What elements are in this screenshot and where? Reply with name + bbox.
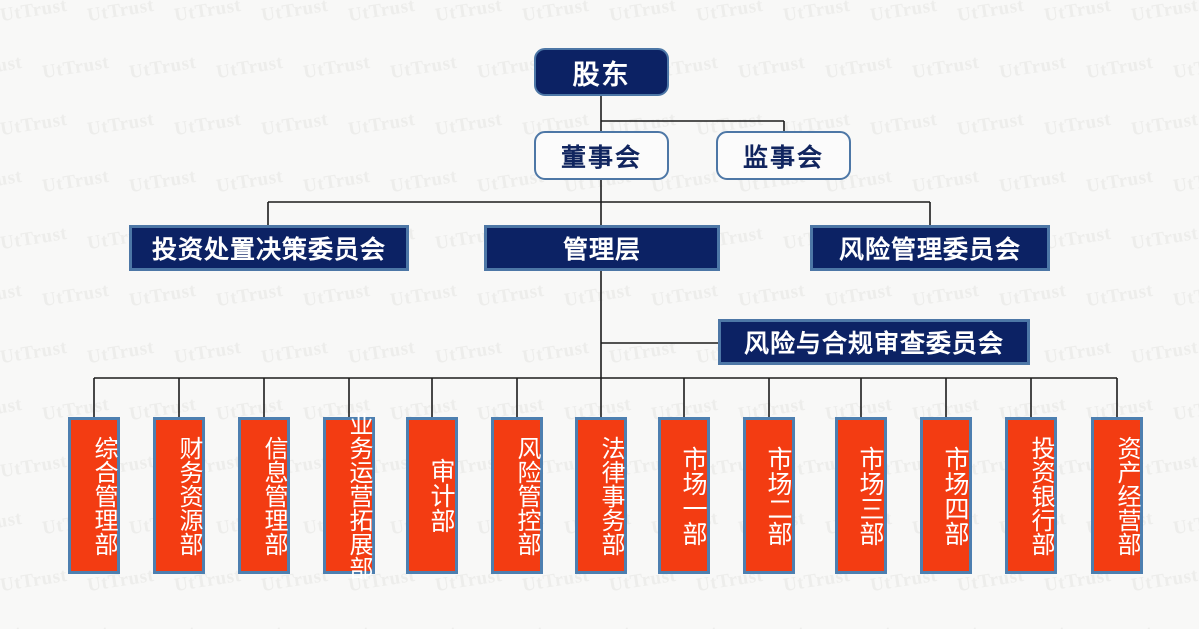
node-department[interactable]: 资产经营部 [1091,417,1143,574]
node-department[interactable]: 信息管理部 [238,417,290,574]
node-board-of-supervisors-label: 监事会 [743,138,824,174]
node-department[interactable]: 投资银行部 [1005,417,1057,574]
node-department-label: 财务资源部 [175,436,202,556]
node-department[interactable]: 风险管控部 [491,417,543,574]
node-department-label: 综合管理部 [90,436,117,556]
node-management[interactable]: 管理层 [484,225,720,271]
node-board-of-supervisors[interactable]: 监事会 [716,131,851,180]
node-layer: 股东 董事会 监事会 投资处置决策委员会 管理层 风险管理委员会 风险与合规审查… [0,0,1199,629]
node-department-label: 资产经营部 [1113,436,1140,556]
node-department[interactable]: 市场一部 [658,417,710,574]
node-investment-disposal-committee-label: 投资处置决策委员会 [152,230,386,266]
node-risk-management-committee-label: 风险管理委员会 [839,230,1021,266]
node-department-label: 业务运营拓展部 [345,412,372,580]
node-department[interactable]: 市场二部 [743,417,795,574]
node-department[interactable]: 综合管理部 [68,417,120,574]
node-department-label: 信息管理部 [260,436,287,556]
node-department-label: 投资银行部 [1027,436,1054,556]
node-department[interactable]: 业务运营拓展部 [323,417,375,574]
node-department-label: 审计部 [427,458,455,533]
node-department-label: 法律事务部 [597,436,624,556]
node-management-label: 管理层 [563,230,641,266]
node-department-label: 市场一部 [679,446,707,546]
node-department[interactable]: 法律事务部 [575,417,627,574]
node-risk-management-committee[interactable]: 风险管理委员会 [810,225,1050,271]
org-chart: UtTrustUtTrustUtTrustUtTrustUtTrustUtTru… [0,0,1199,629]
node-department-label: 市场二部 [764,446,792,546]
node-board-of-directors-label: 董事会 [561,138,642,174]
node-department-label: 市场三部 [856,446,884,546]
node-risk-compliance-review-committee-label: 风险与合规审查委员会 [744,324,1004,360]
node-department[interactable]: 财务资源部 [153,417,205,574]
node-department[interactable]: 市场四部 [920,417,972,574]
node-board-of-directors[interactable]: 董事会 [534,131,669,180]
node-department-label: 风险管控部 [513,436,540,556]
node-risk-compliance-review-committee[interactable]: 风险与合规审查委员会 [718,319,1030,365]
node-department[interactable]: 审计部 [406,417,458,574]
node-shareholder[interactable]: 股东 [534,48,669,96]
node-shareholder-label: 股东 [573,53,631,92]
node-investment-disposal-committee[interactable]: 投资处置决策委员会 [129,225,409,271]
node-department[interactable]: 市场三部 [835,417,887,574]
node-department-label: 市场四部 [941,446,969,546]
